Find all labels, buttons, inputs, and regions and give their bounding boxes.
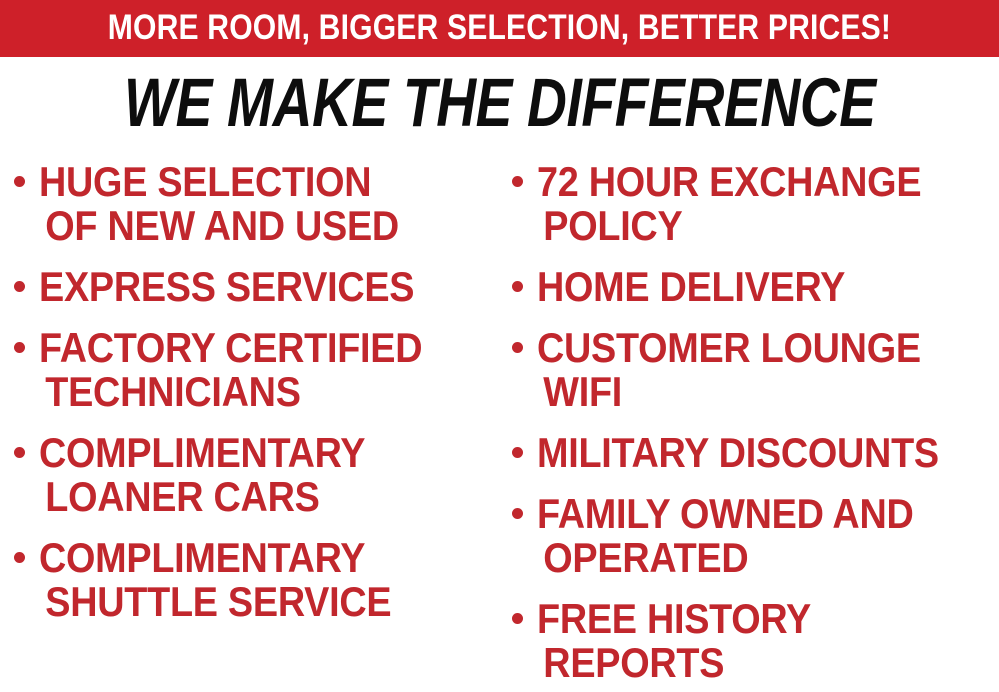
top-banner: MORE ROOM, BIGGER SELECTION, BETTER PRIC… [0, 0, 999, 57]
benefit-label-line1: 72 HOUR EXCHANGE [537, 158, 921, 205]
benefit-label: CUSTOMER LOUNGEWIFI [537, 326, 953, 414]
benefit-label: FAMILY OWNED ANDOPERATED [537, 492, 953, 580]
benefit-label-line2: TECHNICIANS [39, 370, 454, 414]
benefit-label-line1: FACTORY CERTIFIED [39, 324, 422, 371]
benefit-item: COMPLIMENTARYLOANER CARS [14, 431, 500, 519]
benefit-label: MILITARY DISCOUNTS [537, 431, 953, 475]
bullet-dot-icon [14, 342, 25, 353]
benefit-item: CUSTOMER LOUNGEWIFI [512, 326, 999, 414]
benefit-item: HUGE SELECTIONOF NEW AND USED [14, 160, 500, 248]
benefits-column-left: HUGE SELECTIONOF NEW AND USEDEXPRESS SER… [14, 160, 500, 641]
benefit-label-line1: HUGE SELECTION [39, 158, 371, 205]
benefit-label: COMPLIMENTARYLOANER CARS [39, 431, 454, 519]
benefit-label: HUGE SELECTIONOF NEW AND USED [39, 160, 454, 248]
benefit-label: COMPLIMENTARYSHUTTLE SERVICE [39, 536, 454, 624]
benefit-label-line2: SHUTTLE SERVICE [39, 580, 454, 624]
banner-headline: MORE ROOM, BIGGER SELECTION, BETTER PRIC… [108, 10, 891, 47]
benefit-label-line1: FREE HISTORY [537, 595, 811, 642]
benefit-label-line1: CUSTOMER LOUNGE [537, 324, 921, 371]
benefit-label-line1: COMPLIMENTARY [39, 534, 365, 581]
bullet-dot-icon [512, 613, 523, 624]
benefit-item: FAMILY OWNED ANDOPERATED [512, 492, 999, 580]
benefit-item: EXPRESS SERVICES [14, 265, 500, 309]
benefit-item: COMPLIMENTARYSHUTTLE SERVICE [14, 536, 500, 624]
benefit-label-line1: EXPRESS SERVICES [39, 263, 414, 310]
bullet-dot-icon [512, 447, 523, 458]
bullet-dot-icon [512, 508, 523, 519]
benefit-label-line2: OF NEW AND USED [39, 204, 454, 248]
bullet-dot-icon [14, 552, 25, 563]
benefit-label: FREE HISTORYREPORTS [537, 597, 953, 685]
bullet-dot-icon [512, 342, 523, 353]
benefit-label-line2: OPERATED [537, 536, 953, 580]
benefit-label-line2: POLICY [537, 204, 953, 248]
benefit-item: HOME DELIVERY [512, 265, 999, 309]
benefit-item: FREE HISTORYREPORTS [512, 597, 999, 685]
benefit-label: EXPRESS SERVICES [39, 265, 454, 309]
benefit-label-line1: FAMILY OWNED AND [537, 490, 914, 537]
benefit-label: HOME DELIVERY [537, 265, 953, 309]
benefit-label-line1: HOME DELIVERY [537, 263, 845, 310]
benefit-item: 72 HOUR EXCHANGEPOLICY [512, 160, 999, 248]
bullet-dot-icon [14, 176, 25, 187]
benefit-label-line1: COMPLIMENTARY [39, 429, 365, 476]
bullet-dot-icon [14, 281, 25, 292]
bullet-dot-icon [14, 447, 25, 458]
bullet-dot-icon [512, 281, 523, 292]
benefit-label: FACTORY CERTIFIEDTECHNICIANS [39, 326, 454, 414]
benefit-label-line1: MILITARY DISCOUNTS [537, 429, 939, 476]
benefit-label-line2: LOANER CARS [39, 475, 454, 519]
promo-poster: MORE ROOM, BIGGER SELECTION, BETTER PRIC… [0, 0, 999, 692]
benefit-label: 72 HOUR EXCHANGEPOLICY [537, 160, 953, 248]
benefit-label-line2: WIFI [537, 370, 953, 414]
benefit-item: FACTORY CERTIFIEDTECHNICIANS [14, 326, 500, 414]
benefits-column-right: 72 HOUR EXCHANGEPOLICYHOME DELIVERYCUSTO… [512, 160, 999, 692]
benefit-item: MILITARY DISCOUNTS [512, 431, 999, 475]
page-title: WE MAKE THE DIFFERENCE [0, 68, 999, 138]
bullet-dot-icon [512, 176, 523, 187]
benefit-label-line2: REPORTS [537, 641, 953, 685]
benefits-columns: HUGE SELECTIONOF NEW AND USEDEXPRESS SER… [0, 160, 999, 692]
page-title-text: WE MAKE THE DIFFERENCE [124, 68, 876, 138]
